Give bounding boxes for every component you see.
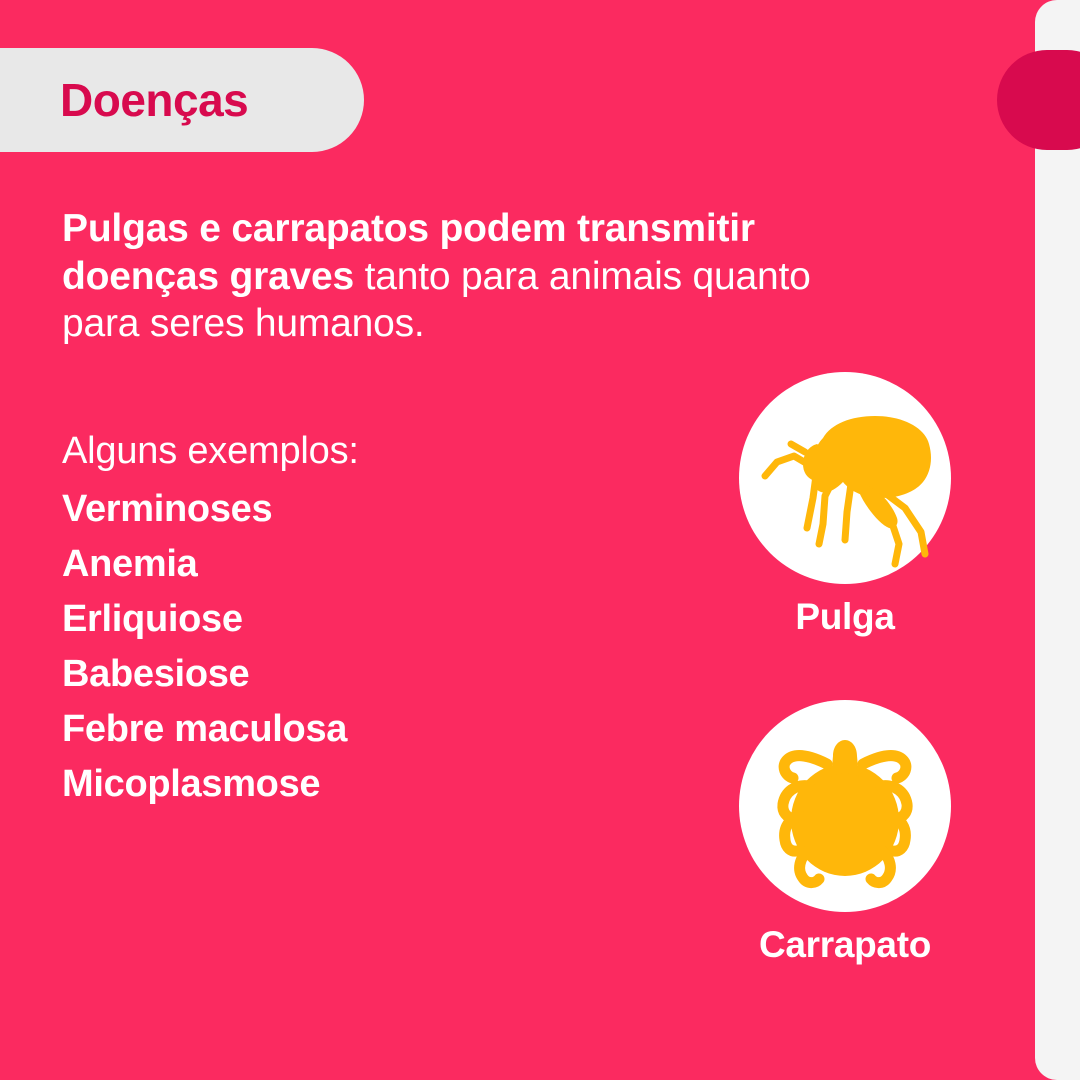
intro-paragraph: Pulgas e carrapatos podem transmitir doe… bbox=[62, 205, 852, 348]
crimson-accent-pill bbox=[997, 50, 1080, 150]
tick-icon bbox=[739, 700, 951, 912]
list-item: Babesiose bbox=[62, 655, 682, 693]
tick-head bbox=[831, 740, 859, 778]
slide-canvas: Doenças Pulgas e carrapatos podem transm… bbox=[0, 0, 1080, 1080]
pest-label-carrapato: Carrapato bbox=[705, 926, 985, 963]
pest-tick: Carrapato bbox=[705, 700, 985, 963]
header-badge: Doenças bbox=[0, 48, 364, 152]
disease-list: Verminoses Anemia Erliquiose Babesiose F… bbox=[62, 490, 682, 803]
flea-body bbox=[811, 416, 931, 498]
flea-disc bbox=[739, 372, 951, 584]
examples-block: Alguns exemplos: Verminoses Anemia Erliq… bbox=[62, 432, 682, 820]
list-item: Micoplasmose bbox=[62, 765, 682, 803]
list-item: Erliquiose bbox=[62, 600, 682, 638]
list-item: Verminoses bbox=[62, 490, 682, 528]
page-title: Doenças bbox=[60, 77, 248, 123]
flea-icon bbox=[739, 372, 951, 584]
right-edge-panel bbox=[1035, 0, 1080, 1080]
list-item: Febre maculosa bbox=[62, 710, 682, 748]
examples-lead-label: Alguns exemplos: bbox=[62, 432, 682, 470]
pest-label-pulga: Pulga bbox=[705, 598, 985, 635]
pest-flea: Pulga bbox=[705, 372, 985, 635]
list-item: Anemia bbox=[62, 545, 682, 583]
tick-disc bbox=[739, 700, 951, 912]
